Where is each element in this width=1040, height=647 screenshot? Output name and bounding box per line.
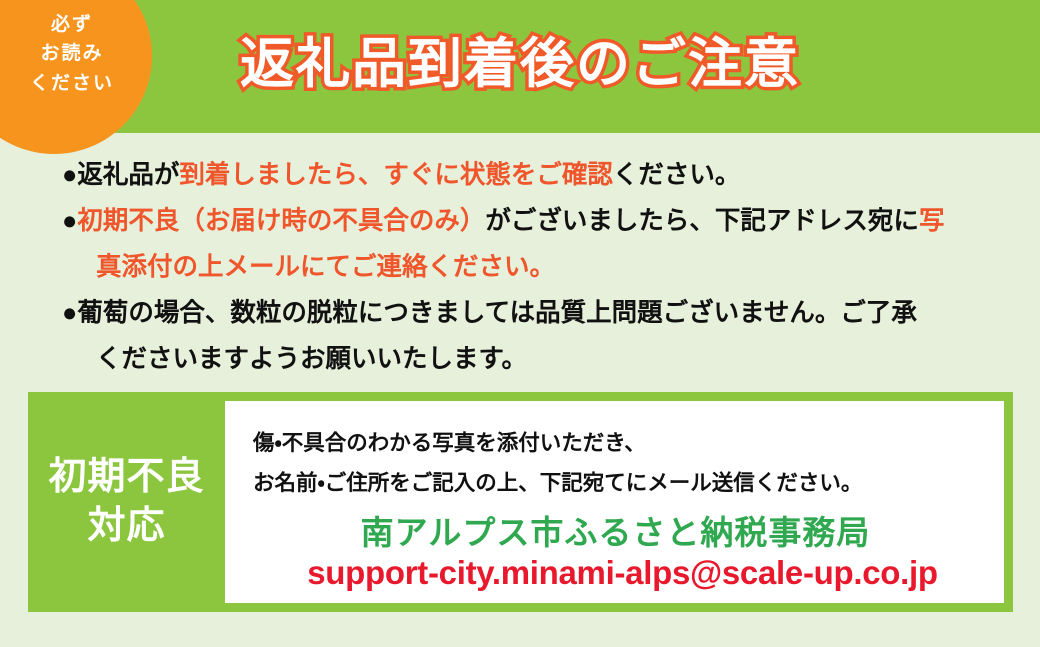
note-1: ●返礼品が到着しましたら、すぐに状態をご確認ください。	[62, 152, 1022, 198]
notice-banner: 返礼品到着後のご注意 必ず お読み ください ●返礼品が到着しましたら、すぐに状…	[0, 0, 1040, 647]
defect-contact-panel: 初期不良 対応 傷・不具合のわかる写真を添付いただき、 お名前・ご住所をご記入の…	[28, 392, 1013, 612]
note-2: ●初期不良（お届け時の不具合のみ）がございましたら、下記アドレス宛に写	[62, 198, 1022, 244]
note-1-segment-1: ●返礼品が	[62, 161, 179, 189]
contact-email[interactable]: support-city.minami-alps@scale-up.co.jp	[253, 553, 1004, 593]
defect-panel-label-line-2: 対応	[87, 502, 165, 551]
note-2-segment-3: がございましたら、下記アドレス宛に	[485, 207, 919, 235]
note-3-cont-segment-1: くださいますようお願いいたします。	[96, 345, 527, 373]
must-read-badge-text: 必ず お読み ください	[0, 10, 152, 98]
note-2-cont-segment-1: 真添付の上メールにてご連絡ください。	[96, 253, 555, 281]
page-title: 返礼品到着後のご注意	[0, 28, 1040, 101]
defect-panel-label: 初期不良 対応	[28, 392, 225, 612]
defect-contact-card: 傷・不具合のわかる写真を添付いただき、 お名前・ご住所をご記入の上、下記宛てにメ…	[225, 401, 1004, 603]
note-3: ●葡萄の場合、数粒の脱粒につきましては品質上問題ございません。ご了承	[62, 290, 1022, 336]
instruction-line-1: 傷・不具合のわかる写真を添付いただき、	[253, 423, 1004, 463]
note-2-segment-4: 写	[919, 207, 945, 235]
note-3-cont: くださいますようお願いいたします。	[62, 336, 1022, 382]
note-3-segment-1: ●葡萄の場合、数粒の脱粒につきましては品質上問題ございません。ご了承	[62, 299, 917, 327]
must-read-badge-line-2: お読み	[0, 39, 152, 68]
must-read-badge-line-1: 必ず	[0, 10, 152, 39]
defect-panel-label-line-1: 初期不良	[48, 453, 204, 502]
notice-list: ●返礼品が到着しましたら、すぐに状態をご確認ください。●初期不良（お届け時の不具…	[62, 152, 1022, 382]
note-2-cont: 真添付の上メールにてご連絡ください。	[62, 244, 1022, 290]
note-1-segment-3: ください。	[613, 161, 741, 189]
note-1-segment-2: 到着しましたら、すぐに状態をご確認	[179, 161, 613, 189]
note-2-segment-2: 初期不良（お届け時の不具合のみ）	[77, 207, 485, 235]
organization-name: 南アルプス市ふるさと納税事務局	[253, 513, 1004, 553]
instruction-line-2: お名前・ご住所をご記入の上、下記宛てにメール送信ください。	[253, 463, 1004, 503]
note-2-segment-1: ●	[62, 207, 77, 235]
must-read-badge-line-3: ください	[0, 69, 152, 98]
